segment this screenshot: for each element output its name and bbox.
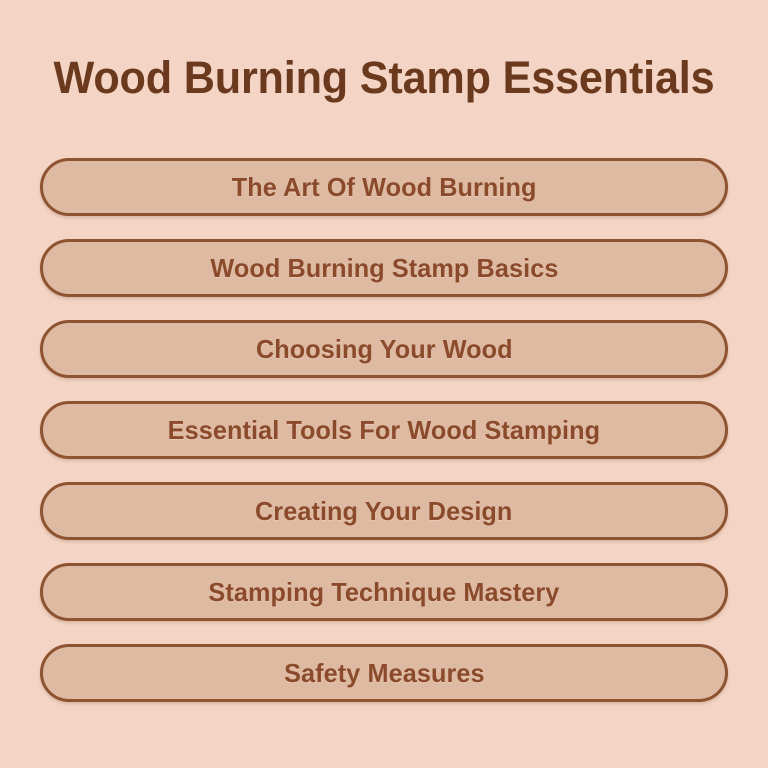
section-pill-5[interactable]: Creating Your Design: [40, 482, 728, 540]
page-title: Wood Burning Stamp Essentials: [15, 55, 752, 100]
section-pill-1[interactable]: The Art Of Wood Burning: [40, 158, 728, 216]
section-list: The Art Of Wood Burning Wood Burning Sta…: [40, 158, 728, 702]
section-pill-label: Choosing Your Wood: [256, 336, 513, 362]
section-pill-7[interactable]: Safety Measures: [40, 644, 728, 702]
section-pill-label: Essential Tools For Wood Stamping: [168, 417, 600, 443]
section-pill-2[interactable]: Wood Burning Stamp Basics: [40, 239, 728, 297]
section-pill-3[interactable]: Choosing Your Wood: [40, 320, 728, 378]
section-pill-label: Creating Your Design: [255, 498, 512, 524]
section-pill-label: The Art Of Wood Burning: [232, 174, 537, 200]
section-pill-label: Stamping Technique Mastery: [208, 579, 559, 605]
section-pill-label: Safety Measures: [284, 660, 485, 686]
section-pill-6[interactable]: Stamping Technique Mastery: [40, 563, 728, 621]
section-pill-label: Wood Burning Stamp Basics: [210, 255, 558, 281]
section-pill-4[interactable]: Essential Tools For Wood Stamping: [40, 401, 728, 459]
infographic-poster: Wood Burning Stamp Essentials The Art Of…: [0, 0, 768, 768]
